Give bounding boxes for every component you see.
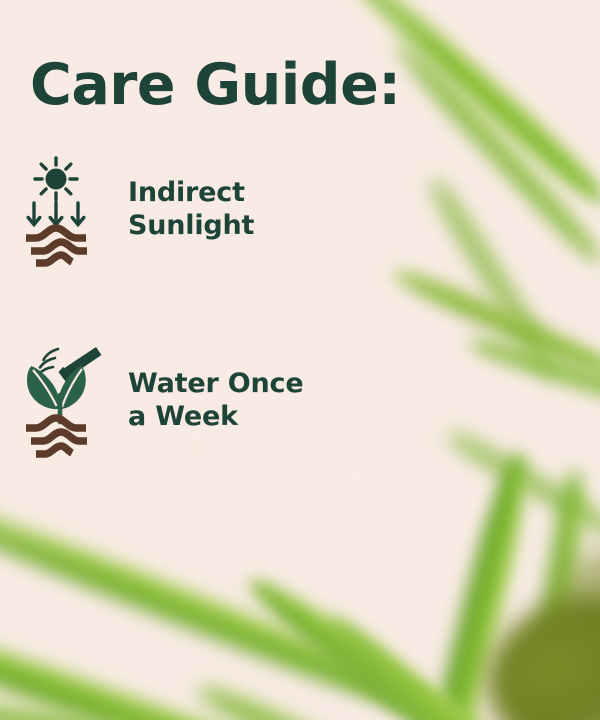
care-item-label-line: Indirect [128,176,254,209]
care-item-label-line: a Week [128,400,303,433]
care-item-label-line: Sunlight [128,209,254,242]
care-item-water-once-a-week: Water Once a Week [22,340,303,460]
leaf-blob [556,548,600,658]
leaf-blade [0,690,455,720]
leaf-blade [386,259,600,386]
leaf-blade [443,425,600,542]
leaf-blade [0,601,517,720]
leaf-blade [396,447,542,720]
spray-lines-icon [39,349,58,374]
leaf-blade [386,34,600,271]
sun-arrows-soil-glyph [22,150,106,268]
leaf-blade [0,471,472,720]
leaf-blade [191,674,565,720]
sun-icon [46,169,67,190]
down-arrows-icon [28,203,84,225]
leaf-blade [513,467,593,720]
soil-waves-icon [26,228,87,263]
leaf-blade [317,605,600,720]
leaf-blade [238,564,600,720]
leaf-blade [466,331,600,419]
page-title: Care Guide: [30,52,401,118]
sun-arrows-soil-icon [22,150,106,268]
care-item-label: Water Once a Week [128,367,303,434]
care-guide-card: Care Guide: [0,0,600,720]
leaf-blade [423,173,564,380]
soil-waves-icon [26,418,87,454]
care-item-indirect-sunlight: Indirect Sunlight [22,150,254,268]
care-item-label: Indirect Sunlight [128,176,254,243]
leaf-blob [465,564,600,720]
seedling-watering-soil-glyph [22,340,106,460]
care-item-label-line: Water Once [128,367,303,400]
seedling-watering-soil-icon [22,340,106,460]
leaf-pair-icon [27,366,86,423]
